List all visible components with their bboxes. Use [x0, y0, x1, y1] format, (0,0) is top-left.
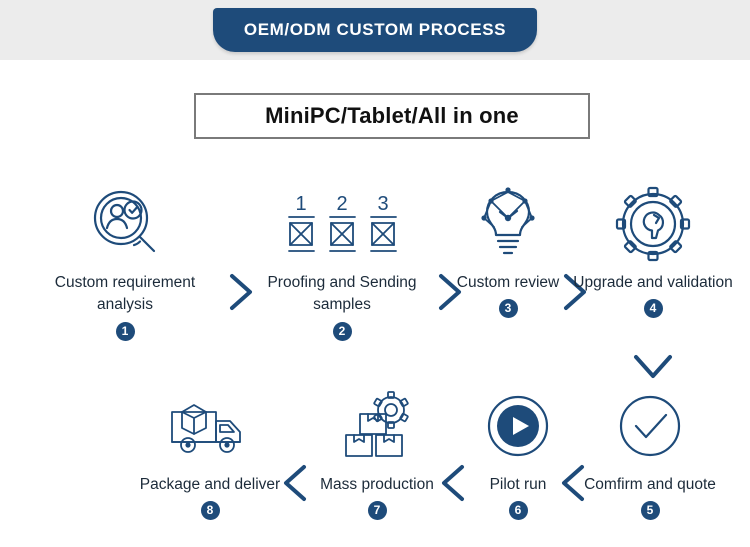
step-5-number: 5 — [641, 501, 660, 520]
step-1: Custom requirement analysis 1 — [40, 182, 210, 341]
step-1-label: Custom requirement analysis — [40, 272, 210, 317]
sample-digit-3: 3 — [377, 193, 388, 215]
step-7: Mass production 7 — [292, 384, 462, 520]
step-8-number: 8 — [201, 501, 220, 520]
step-8: Package and deliver 8 — [125, 384, 295, 520]
banner: OEM/ODM CUSTOM PROCESS — [213, 8, 537, 52]
step-2-label: Proofing and Sending samples — [257, 272, 427, 317]
magnifier-person-check-icon — [40, 182, 210, 266]
chevron-right-1-2 — [228, 272, 256, 312]
step-6-number: 6 — [509, 501, 528, 520]
boxes-gear-icon — [292, 384, 462, 468]
subtitle-box: MiniPC/Tablet/All in one — [194, 93, 590, 139]
banner-title: OEM/ODM CUSTOM PROCESS — [244, 20, 506, 40]
step-4-number: 4 — [644, 299, 663, 318]
step-3-number: 3 — [499, 299, 518, 318]
gear-wrench-icon — [568, 182, 738, 266]
sample-digit-1: 1 — [295, 193, 306, 215]
step-1-number: 1 — [116, 322, 135, 341]
step-4: Upgrade and validation 4 — [568, 182, 738, 318]
step-4-label: Upgrade and validation — [568, 272, 738, 294]
step-8-label: Package and deliver — [125, 474, 295, 496]
sample-digit-2: 2 — [336, 193, 347, 215]
delivery-truck-icon — [125, 384, 295, 468]
step-7-number: 7 — [368, 501, 387, 520]
step-7-label: Mass production — [292, 474, 462, 496]
step-2-number: 2 — [333, 322, 352, 341]
chevron-down-4-5 — [632, 352, 674, 382]
step-2: 1 2 3 Proofing and Sending samples 2 — [257, 182, 427, 341]
subtitle-text: MiniPC/Tablet/All in one — [265, 103, 519, 129]
numbered-samples-icon: 1 2 3 — [257, 182, 427, 266]
